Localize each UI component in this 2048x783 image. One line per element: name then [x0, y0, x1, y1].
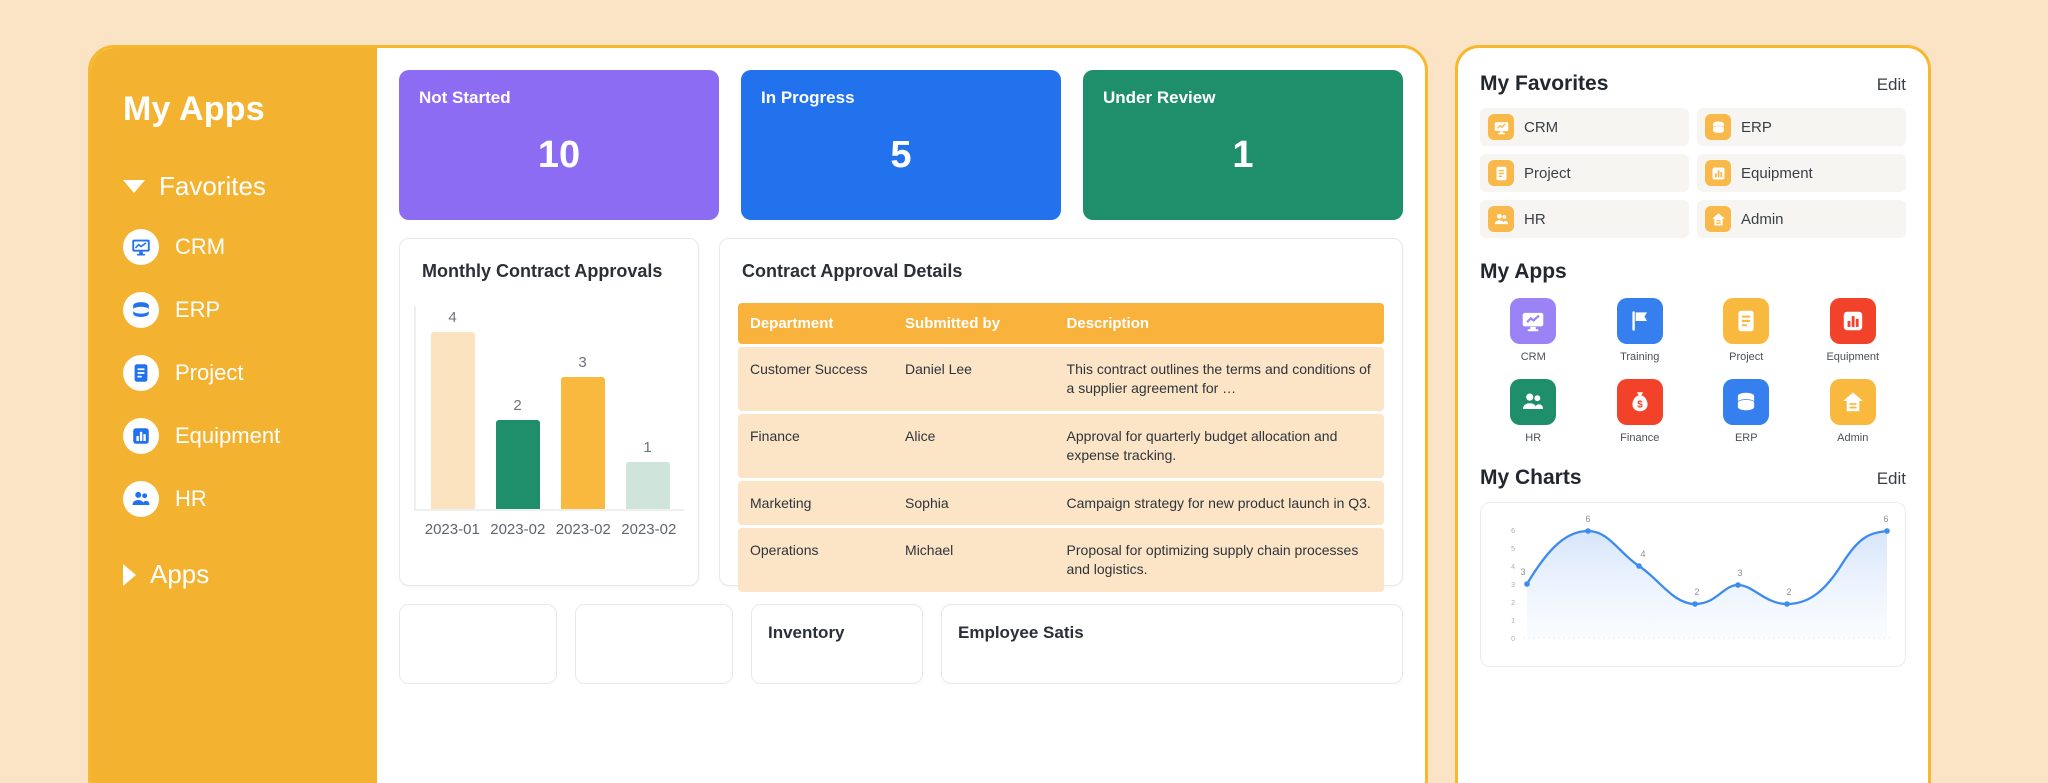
sidebar-item-hr[interactable]: HR	[91, 481, 377, 517]
favorite-label: CRM	[1524, 119, 1558, 136]
kpi-card-under-review[interactable]: Under Review 1	[1083, 70, 1403, 220]
cell-description: Approval for quarterly budget allocation…	[1055, 414, 1384, 478]
favorite-chip-project[interactable]: Project	[1480, 154, 1689, 192]
sidebar-item-project[interactable]: Project	[91, 355, 377, 391]
sidebar-item-hr-label: HR	[175, 486, 207, 512]
document-icon	[1488, 160, 1514, 186]
favorite-label: Equipment	[1741, 165, 1813, 182]
sidebar-item-crm-label: CRM	[175, 234, 225, 260]
svg-text:$: $	[1637, 399, 1643, 410]
app-label: HR	[1525, 432, 1541, 444]
app-label: Project	[1729, 351, 1763, 363]
monitor-chart-icon	[123, 229, 159, 265]
document-icon	[123, 355, 159, 391]
favorite-label: HR	[1524, 211, 1546, 228]
bar[interactable]	[431, 332, 475, 509]
bar-value-label: 3	[578, 354, 586, 371]
bottom-card-1[interactable]	[399, 604, 557, 684]
svg-text:6: 6	[1511, 528, 1515, 535]
people-icon	[1488, 206, 1514, 232]
cell-submitted-by: Alice	[893, 414, 1055, 478]
svg-text:2: 2	[1511, 600, 1515, 607]
cell-department: Operations	[738, 528, 893, 592]
cell-submitted-by: Michael	[893, 528, 1055, 592]
favorites-edit-button[interactable]: Edit	[1877, 75, 1906, 95]
bottom-card-title: Employee Satis	[958, 623, 1386, 643]
column-header-department: Department	[738, 303, 893, 344]
point-label: 4	[1640, 549, 1645, 559]
app-tile-hr[interactable]: HR	[1480, 379, 1587, 444]
cell-description: Campaign strategy for new product launch…	[1055, 481, 1384, 526]
favorites-grid: CRM ERP Project Equipment	[1480, 108, 1906, 238]
app-tile-finance[interactable]: $ Finance	[1587, 379, 1694, 444]
sidebar-item-erp[interactable]: ERP	[91, 292, 377, 328]
app-label: Training	[1620, 351, 1659, 363]
point-label: 3	[1520, 567, 1525, 577]
bar[interactable]	[496, 420, 540, 509]
favorite-chip-erp[interactable]: ERP	[1697, 108, 1906, 146]
bar[interactable]	[626, 462, 670, 509]
app-tile-training[interactable]: Training	[1587, 298, 1694, 363]
app-tile-admin[interactable]: Admin	[1800, 379, 1907, 444]
table-title: Contract Approval Details	[720, 239, 1402, 282]
sidebar-group-apps[interactable]: Apps	[91, 559, 377, 590]
right-panel: My Favorites Edit CRM ERP Project	[1455, 45, 1931, 783]
line-chart-card: 012 3456 3 6 4 2 3 2	[1480, 502, 1906, 667]
table-row[interactable]: Finance Alice Approval for quarterly bud…	[738, 414, 1384, 478]
app-label: Admin	[1837, 432, 1868, 444]
svg-text:4: 4	[1511, 564, 1515, 571]
bar-chart-plot: 4 2 3 1	[414, 306, 684, 511]
main-window: My Apps Favorites CRM ERP	[88, 45, 1428, 783]
sidebar-item-project-label: Project	[175, 360, 243, 386]
bar-value-label: 2	[513, 397, 521, 414]
favorite-chip-crm[interactable]: CRM	[1480, 108, 1689, 146]
kpi-label: Not Started	[419, 88, 699, 108]
sidebar-item-equipment[interactable]: Equipment	[91, 418, 377, 454]
cell-department: Customer Success	[738, 347, 893, 411]
app-tile-erp[interactable]: ERP	[1693, 379, 1800, 444]
triangle-down-icon	[123, 180, 145, 193]
people-icon	[123, 481, 159, 517]
database-icon	[123, 292, 159, 328]
sidebar-item-equipment-label: Equipment	[175, 423, 280, 449]
sidebar-title: My Apps	[91, 90, 377, 129]
sidebar-group-favorites[interactable]: Favorites	[91, 171, 377, 202]
app-label: ERP	[1735, 432, 1758, 444]
point-label: 2	[1694, 587, 1699, 597]
kpi-label: In Progress	[761, 88, 1041, 108]
bottom-card-row: Inventory Employee Satis	[399, 604, 1403, 684]
kpi-label: Under Review	[1103, 88, 1383, 108]
cell-description: Proposal for optimizing supply chain pro…	[1055, 528, 1384, 592]
bar-value-label: 1	[643, 439, 651, 456]
cell-submitted-by: Sophia	[893, 481, 1055, 526]
money-bag-icon: $	[1617, 379, 1663, 425]
bar-chart-icon	[123, 418, 159, 454]
table-row[interactable]: Marketing Sophia Campaign strategy for n…	[738, 481, 1384, 526]
point-label: 6	[1585, 514, 1590, 524]
bar-column: 2	[492, 306, 544, 509]
favorite-label: Admin	[1741, 211, 1784, 228]
x-tick-label: 2023-01	[425, 521, 477, 538]
kpi-card-in-progress[interactable]: In Progress 5	[741, 70, 1061, 220]
home-icon	[1830, 379, 1876, 425]
people-icon	[1510, 379, 1556, 425]
app-tile-crm[interactable]: CRM	[1480, 298, 1587, 363]
favorite-chip-equipment[interactable]: Equipment	[1697, 154, 1906, 192]
chart-title: Monthly Contract Approvals	[400, 239, 698, 282]
point-label: 3	[1737, 568, 1742, 578]
app-label: Finance	[1620, 432, 1659, 444]
svg-text:5: 5	[1511, 546, 1515, 553]
screen: My Apps Favorites CRM ERP	[0, 0, 2048, 783]
bar-chart-xaxis: 2023-01 2023-02 2023-02 2023-02	[414, 521, 684, 538]
bar-chart-icon	[1705, 160, 1731, 186]
kpi-card-not-started[interactable]: Not Started 10	[399, 70, 719, 220]
column-header-description: Description	[1055, 303, 1384, 344]
app-label: Equipment	[1826, 351, 1879, 363]
my-charts-title: My Charts	[1480, 466, 1582, 490]
point-label: 2	[1786, 587, 1791, 597]
document-icon	[1723, 298, 1769, 344]
sidebar-item-erp-label: ERP	[175, 297, 220, 323]
sidebar-item-crm[interactable]: CRM	[91, 229, 377, 265]
sidebar-group-apps-label: Apps	[150, 559, 209, 590]
app-label: CRM	[1521, 351, 1546, 363]
mid-row: Monthly Contract Approvals 4 2 3	[399, 238, 1403, 586]
app-tile-project[interactable]: Project	[1693, 298, 1800, 363]
bar-chart-icon	[1830, 298, 1876, 344]
left-sidebar: My Apps Favorites CRM ERP	[91, 48, 377, 783]
monitor-chart-icon	[1488, 114, 1514, 140]
table-row[interactable]: Customer Success Daniel Lee This contrac…	[738, 347, 1384, 411]
favorite-label: Project	[1524, 165, 1571, 182]
svg-text:0: 0	[1511, 636, 1515, 643]
monthly-contract-approvals-card: Monthly Contract Approvals 4 2 3	[399, 238, 699, 586]
bottom-card-title: Inventory	[768, 623, 906, 643]
my-favorites-title: My Favorites	[1480, 72, 1608, 96]
database-icon	[1705, 114, 1731, 140]
bar-column: 4	[427, 306, 479, 509]
kpi-value: 10	[419, 108, 699, 202]
triangle-right-icon	[123, 564, 136, 586]
favorite-label: ERP	[1741, 119, 1772, 136]
apps-grid: CRM Training Project Equipment	[1480, 298, 1906, 444]
database-icon	[1723, 379, 1769, 425]
x-tick-label: 2023-02	[556, 521, 608, 538]
cell-submitted-by: Daniel Lee	[893, 347, 1055, 411]
bar-value-label: 4	[448, 309, 456, 326]
my-favorites-header: My Favorites Edit	[1480, 72, 1906, 96]
svg-text:1: 1	[1511, 618, 1515, 625]
bottom-card-employee-satisfaction[interactable]: Employee Satis	[941, 604, 1403, 684]
cell-description: This contract outlines the terms and con…	[1055, 347, 1384, 411]
bar[interactable]	[561, 377, 605, 509]
kpi-value: 1	[1103, 108, 1383, 202]
contract-approval-table: Department Submitted by Description Cust…	[738, 300, 1384, 595]
favorite-chip-hr[interactable]: HR	[1480, 200, 1689, 238]
sidebar-group-favorites-label: Favorites	[159, 171, 266, 202]
kpi-value: 5	[761, 108, 1041, 202]
table-row[interactable]: Operations Michael Proposal for optimizi…	[738, 528, 1384, 592]
main-content: Not Started 10 In Progress 5 Under Revie…	[377, 48, 1425, 783]
bar-column: 1	[622, 306, 674, 509]
my-apps-title: My Apps	[1480, 260, 1906, 284]
monitor-chart-icon	[1510, 298, 1556, 344]
app-tile-equipment[interactable]: Equipment	[1800, 298, 1907, 363]
my-charts-header: My Charts Edit	[1480, 466, 1906, 490]
flag-icon	[1617, 298, 1663, 344]
bottom-card-2[interactable]	[575, 604, 733, 684]
svg-text:3: 3	[1511, 582, 1515, 589]
line-chart-plot[interactable]: 012 3456 3 6 4 2 3 2	[1487, 509, 1905, 659]
x-tick-label: 2023-02	[490, 521, 542, 538]
contract-approval-details-card: Contract Approval Details Department Sub…	[719, 238, 1403, 586]
bottom-card-inventory[interactable]: Inventory	[751, 604, 923, 684]
x-tick-label: 2023-02	[621, 521, 673, 538]
bar-column: 3	[557, 306, 609, 509]
kpi-row: Not Started 10 In Progress 5 Under Revie…	[399, 70, 1403, 220]
home-icon	[1705, 206, 1731, 232]
cell-department: Finance	[738, 414, 893, 478]
cell-department: Marketing	[738, 481, 893, 526]
column-header-submitted-by: Submitted by	[893, 303, 1055, 344]
point-label: 6	[1883, 514, 1888, 524]
table-header-row: Department Submitted by Description	[738, 303, 1384, 344]
favorite-chip-admin[interactable]: Admin	[1697, 200, 1906, 238]
charts-edit-button[interactable]: Edit	[1877, 469, 1906, 489]
